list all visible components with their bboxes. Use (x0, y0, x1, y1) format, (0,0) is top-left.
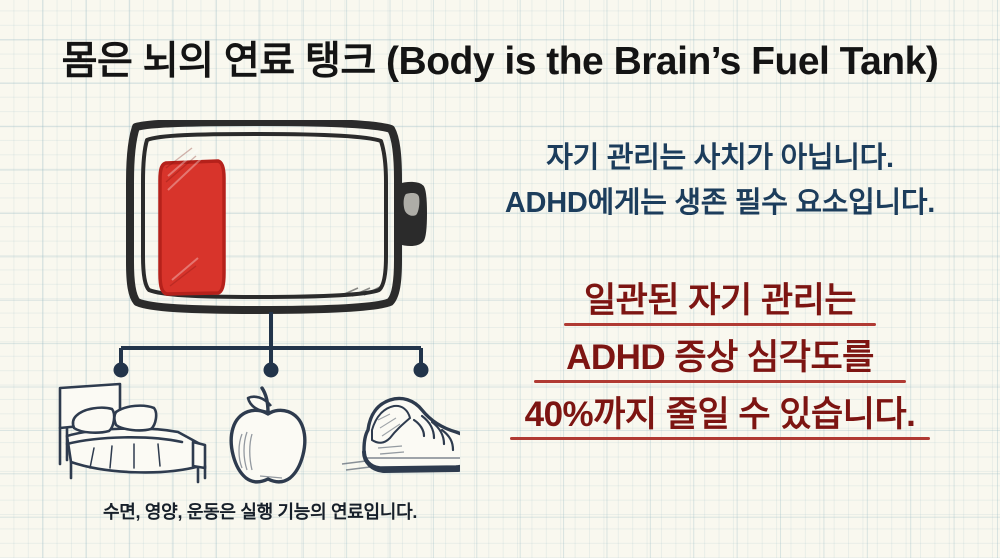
statement-block: 자기 관리는 사치가 아닙니다. ADHD에게는 생존 필수 요소입니다. (440, 136, 1000, 226)
illustration-caption: 수면, 영양, 운동은 실행 기능의 연료입니다. (103, 498, 417, 524)
apple-icon (231, 388, 305, 482)
emphasis-line-2: ADHD 증상 심각도를 (440, 329, 1000, 386)
slide-canvas: 몸은 뇌의 연료 탱크 (Body is the Brain’s Fuel Ta… (0, 0, 1000, 558)
statement-line-2: ADHD에게는 생존 필수 요소입니다. (440, 181, 1000, 226)
page-title: 몸은 뇌의 연료 탱크 (Body is the Brain’s Fuel Ta… (0, 30, 1000, 86)
illustration-group (40, 120, 460, 490)
statement-line-1: 자기 관리는 사치가 아닙니다. (440, 136, 1000, 181)
emphasis-block: 일관된 자기 관리는 ADHD 증상 심각도를 40%까지 줄일 수 있습니다. (440, 272, 1000, 443)
emphasis-line-1: 일관된 자기 관리는 (440, 272, 1000, 329)
branch-connector-icon (114, 312, 428, 377)
emphasis-line-3: 40%까지 줄일 수 있습니다. (440, 386, 1000, 443)
low-battery-icon (130, 122, 425, 310)
bed-icon (60, 384, 205, 482)
